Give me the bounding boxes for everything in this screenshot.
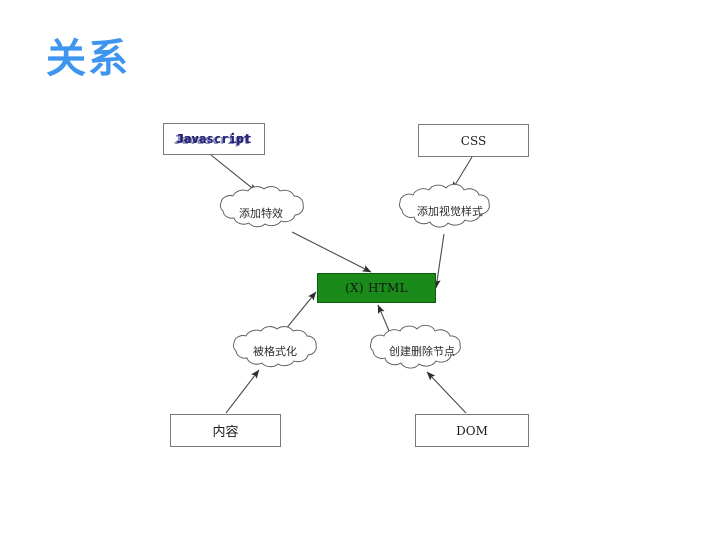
edge-javascript-to-effects xyxy=(211,155,257,192)
node-xhtml-box[interactable] xyxy=(318,274,436,303)
node-javascript-box[interactable] xyxy=(164,124,265,155)
node-content-box[interactable] xyxy=(171,415,281,447)
node-formatted-cloud[interactable] xyxy=(234,327,317,367)
node-visual-styles-cloud[interactable] xyxy=(400,184,490,227)
node-dom-box[interactable] xyxy=(416,415,529,447)
node-create-delete-nodes-cloud[interactable] xyxy=(371,325,461,368)
edge-effects-to-xhtml xyxy=(292,232,371,272)
node-css-box[interactable] xyxy=(419,125,529,157)
edge-content-to-formatted xyxy=(226,370,259,413)
edge-create-delete-nodes-to-xhtml xyxy=(378,305,390,333)
edge-formatted-to-xhtml xyxy=(285,292,316,330)
edge-dom-to-create-delete-nodes xyxy=(427,372,466,413)
slide-canvas: 关系 xyxy=(0,0,720,540)
relationship-diagram xyxy=(0,0,720,540)
edge-visual-styles-to-xhtml xyxy=(436,234,444,288)
node-effects-cloud[interactable] xyxy=(221,187,304,227)
